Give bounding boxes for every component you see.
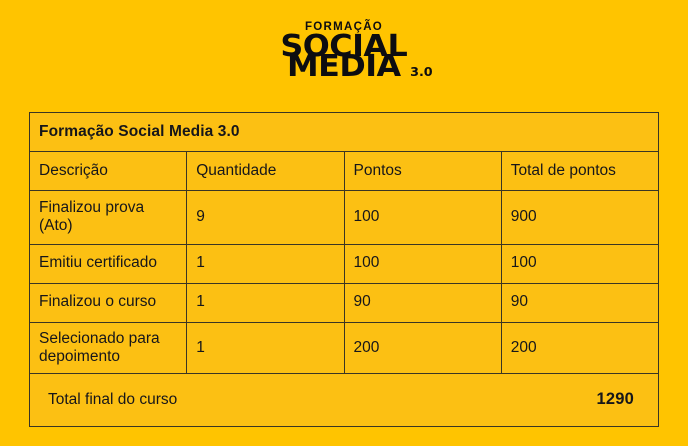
- cell-description: Selecionado para depoimento: [30, 322, 187, 374]
- table-row: Selecionado para depoimento 1 200 200: [30, 322, 659, 374]
- logo-version-text: 3.0: [410, 68, 433, 77]
- table-title: Formação Social Media 3.0: [30, 113, 659, 152]
- column-header-description: Descrição: [30, 152, 187, 191]
- column-header-quantity: Quantidade: [187, 152, 344, 191]
- column-header-points: Pontos: [344, 152, 501, 191]
- total-value: 1290: [596, 390, 634, 409]
- cell-quantity: 9: [187, 191, 344, 245]
- cell-description: Finalizou prova (Ato): [30, 191, 187, 245]
- cell-quantity: 1: [187, 244, 344, 283]
- cell-points: 90: [344, 283, 501, 322]
- cell-total-points: 200: [501, 322, 658, 374]
- total-row-inner: Total final do curso 1290: [39, 382, 649, 418]
- cell-points: 200: [344, 322, 501, 374]
- cell-quantity: 1: [187, 322, 344, 374]
- total-label: Total final do curso: [48, 391, 177, 409]
- logo-media-label: MEDIA: [287, 49, 401, 84]
- table-row: Finalizou o curso 1 90 90: [30, 283, 659, 322]
- points-table: Formação Social Media 3.0 Descrição Quan…: [29, 112, 659, 427]
- cell-quantity: 1: [187, 283, 344, 322]
- cell-total-points: 90: [501, 283, 658, 322]
- cell-description: Finalizou o curso: [30, 283, 187, 322]
- table-title-row: Formação Social Media 3.0: [30, 113, 659, 152]
- table-row: Finalizou prova (Ato) 9 100 900: [30, 191, 659, 245]
- cell-points: 100: [344, 191, 501, 245]
- table-header-row: Descrição Quantidade Pontos Total de pon…: [30, 152, 659, 191]
- logo-wordmark: SOCIAL MEDIA 3.0: [284, 35, 404, 79]
- cell-description: Emitiu certificado: [30, 244, 187, 283]
- brand-logo: FORMAÇÃO SOCIAL MEDIA 3.0: [0, 0, 688, 104]
- points-table-container: Formação Social Media 3.0 Descrição Quan…: [29, 112, 659, 427]
- total-row-cell: Total final do curso 1290: [30, 374, 659, 427]
- cell-total-points: 100: [501, 244, 658, 283]
- cell-total-points: 900: [501, 191, 658, 245]
- column-header-total-points: Total de pontos: [501, 152, 658, 191]
- table-total-row: Total final do curso 1290: [30, 374, 659, 427]
- cell-points: 100: [344, 244, 501, 283]
- logo-media-text: MEDIA 3.0: [281, 55, 408, 78]
- table-row: Emitiu certificado 1 100 100: [30, 244, 659, 283]
